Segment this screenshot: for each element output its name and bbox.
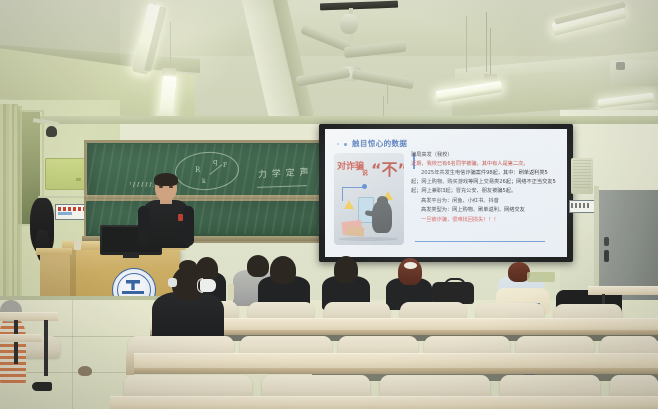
presenter-eye-left — [159, 186, 163, 188]
security-camera-icon — [46, 126, 57, 137]
presenter-arm-left — [138, 206, 149, 246]
poster-node-dot — [362, 184, 367, 189]
light-rod-2 — [170, 22, 171, 70]
notice-plaque-text-2 — [58, 212, 72, 215]
fan-chain — [387, 80, 388, 104]
slide-title-row: 触目惊心的数据 — [337, 138, 407, 149]
slide-poster-image: 对诈骗 说 “不” — [334, 153, 404, 245]
hair-scrunchie — [404, 262, 417, 269]
notice-plaque-text — [58, 207, 84, 211]
face-mask-ear-loop — [197, 278, 203, 293]
poster-connector-line-2 — [342, 187, 364, 188]
side-desk-left-leg — [44, 320, 48, 376]
slide-line-2-text: 近期，我校已有6名同学被骗，其中有人是第二次。 — [411, 161, 528, 167]
light-rod-3 — [486, 12, 487, 72]
student-center-right-head — [334, 256, 358, 283]
warning-triangle-icon-left — [344, 200, 354, 209]
lectern-item-cup — [74, 241, 81, 250]
chalk-dust-smear — [86, 144, 330, 234]
slide-warning-underline — [415, 241, 545, 242]
side-desk-left-leg-2 — [14, 320, 18, 364]
electrical-box — [45, 158, 85, 190]
slide-line-4: 高发平台为：闲鱼、小红书、抖音 — [411, 197, 557, 206]
poster-ground-shadow — [338, 237, 398, 241]
student-center-head — [270, 256, 296, 284]
slide-line-1: 骗局高发（我校） — [411, 151, 557, 160]
light-hanger-4 — [484, 74, 497, 81]
slide-body: 骗局高发（我校） 近期，我校已有6名同学被骗，其中有人是第二次。 2025年共发… — [411, 151, 557, 225]
slide-bullet-small — [337, 143, 339, 145]
side-desk-right — [588, 286, 658, 295]
lectern-side-table — [36, 248, 72, 255]
curtain-fold — [14, 106, 22, 302]
poster-no-word: “不” — [371, 156, 404, 180]
slide-line-2: 近期，我校已有6名同学被骗，其中有人是第二次。 — [411, 160, 557, 169]
thief-head-icon — [377, 196, 388, 205]
floor-bag-object — [78, 366, 92, 376]
light-rod-4 — [490, 28, 491, 78]
electrical-box-latch — [76, 178, 81, 181]
desk-items-cluster — [527, 272, 555, 282]
slide-line-3: 2025年共发生电信诈骗案件98起，其中：刷单返利类5起；网上购物、购买游戏等网… — [411, 169, 557, 196]
door-lock-icon[interactable] — [604, 250, 609, 262]
wall-trim — [0, 116, 658, 124]
presenter-eye-right — [169, 186, 173, 188]
side-desk-left-top — [0, 312, 58, 321]
poster-headline: 对诈骗 — [337, 159, 364, 172]
desk-items-bottle — [228, 284, 234, 300]
slide-line-5: 高发类型为：网上购物、刷单返利、网络交友 — [411, 206, 557, 215]
bag-strap — [444, 278, 466, 286]
slide-bullet-large — [344, 143, 347, 146]
monitor-stand — [123, 252, 139, 258]
floor-tile-line-v — [72, 300, 73, 409]
fan-motor — [340, 14, 358, 34]
presenter-hair — [154, 173, 178, 186]
student-left-front-bun — [179, 260, 197, 273]
desk-row-c-top — [110, 396, 658, 409]
right-wall-sign-text — [571, 203, 591, 208]
wall-speaker-grille — [573, 160, 591, 190]
slide-title-text: 触目惊心的数据 — [352, 139, 407, 148]
student-far-left-body — [0, 320, 26, 384]
light-hanger-2 — [162, 68, 176, 75]
door-handle-icon[interactable] — [604, 237, 609, 246]
student-far-left-shoe — [32, 382, 52, 391]
projector-lens — [616, 62, 625, 70]
desk-row-b-left-end — [126, 353, 134, 375]
slide-line-6: 一旦被诈骗，很难找回损失！！！ — [411, 216, 557, 225]
side-desk-left-shelf — [0, 334, 42, 342]
presenter-arm-right — [183, 206, 194, 246]
thief-figure-icon — [372, 201, 392, 233]
student-grey-head — [247, 255, 269, 277]
face-mask-icon-2 — [168, 278, 177, 287]
slide: 触目惊心的数据 对诈骗 说 “不” — [325, 129, 567, 257]
poster-connector-line — [342, 187, 343, 201]
package-icon-2 — [347, 226, 365, 236]
poster-say: 说 — [362, 168, 368, 177]
hanging-rod-right — [466, 16, 467, 72]
classroom-photo: R q F k 力 学 定 声 触目惊心的数据 对诈骗 说 “不” — [0, 0, 658, 409]
